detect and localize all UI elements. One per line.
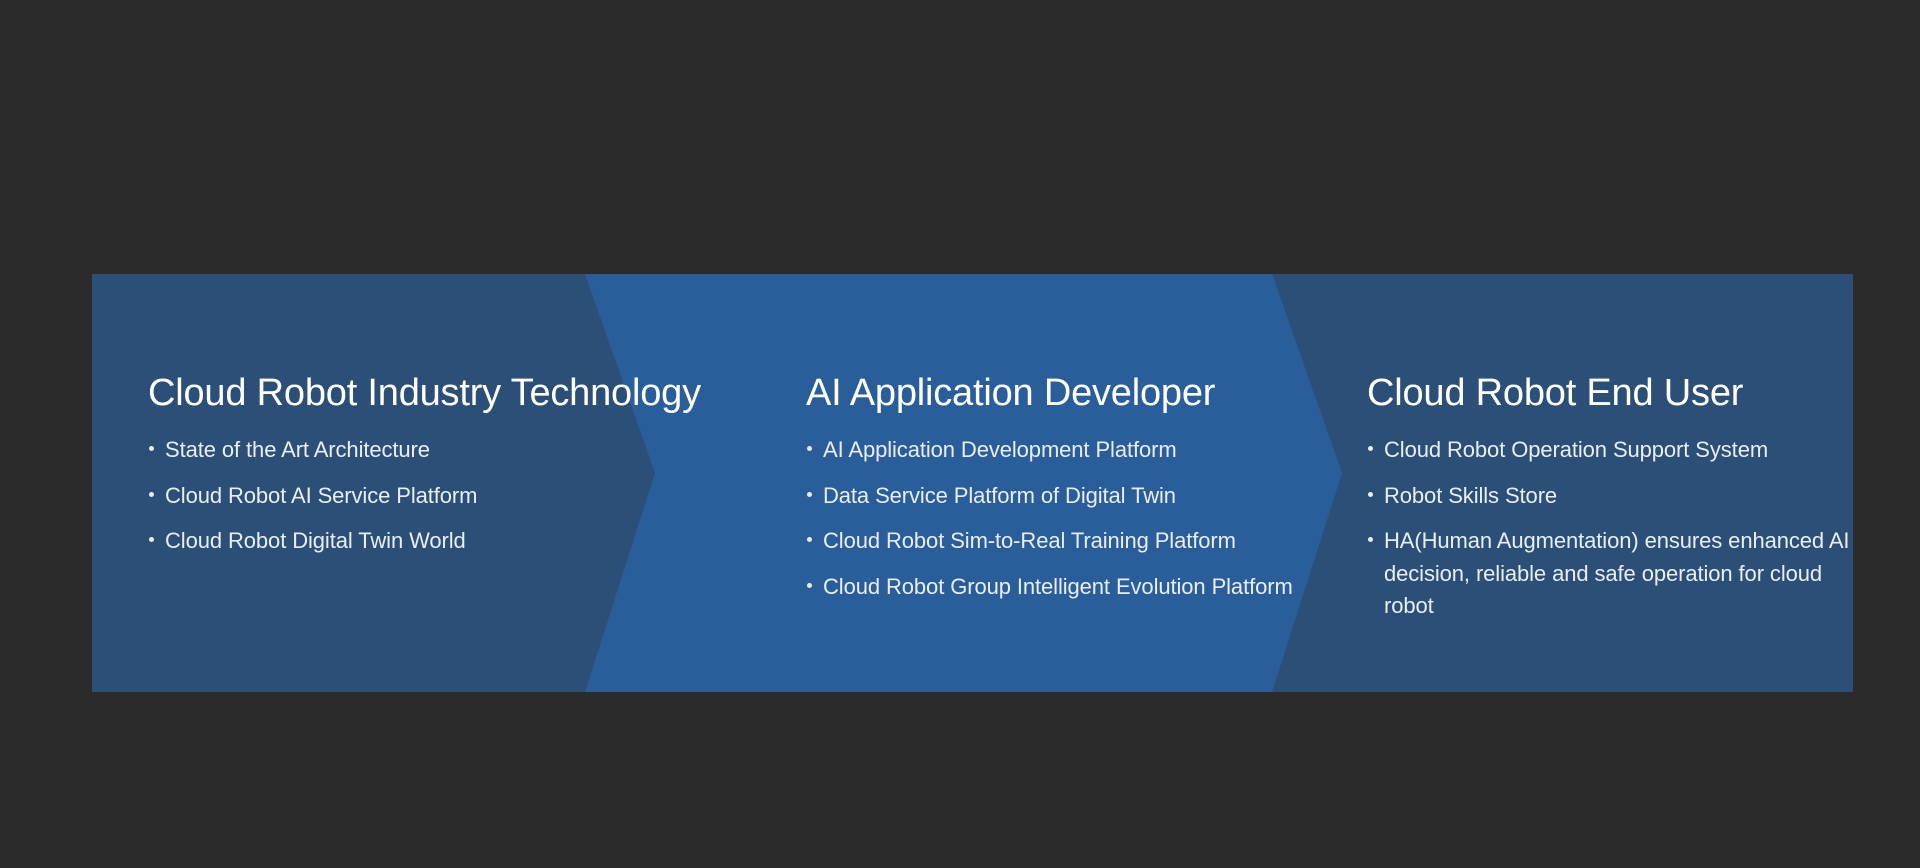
list-item-label: State of the Art Architecture <box>165 437 430 462</box>
list-item-label: Cloud Robot AI Service Platform <box>165 483 477 508</box>
list-item-label: Robot Skills Store <box>1384 483 1557 508</box>
list-item: Cloud Robot Operation Support System <box>1367 434 1867 467</box>
list-item: Cloud Robot Sim-to-Real Training Platfor… <box>806 525 1293 558</box>
list-item-label: Cloud Robot Digital Twin World <box>165 528 466 553</box>
list-item: State of the Art Architecture <box>148 434 477 467</box>
list-item: AI Application Development Platform <box>806 434 1293 467</box>
segment-3-heading: Cloud Robot End User <box>1367 374 1743 412</box>
bullet-dot-icon <box>1368 446 1373 451</box>
bullet-dot-icon <box>807 492 812 497</box>
bullet-dot-icon <box>807 446 812 451</box>
bullet-dot-icon <box>149 492 154 497</box>
list-item-label: AI Application Development Platform <box>823 437 1177 462</box>
segment-1-heading: Cloud Robot Industry Technology <box>148 374 701 412</box>
bullet-dot-icon <box>1368 537 1373 542</box>
bullet-dot-icon <box>807 583 812 588</box>
list-item: Robot Skills Store <box>1367 480 1867 513</box>
column-cloud-robot-end-user: Cloud Robot End User Cloud Robot Operati… <box>1367 274 1867 692</box>
bullet-dot-icon <box>149 446 154 451</box>
segment-2-heading: AI Application Developer <box>806 374 1215 412</box>
list-item-label: Cloud Robot Group Intelligent Evolution … <box>823 574 1293 599</box>
list-item-label: HA(Human Augmentation) ensures enhanced … <box>1384 528 1849 618</box>
column-cloud-robot-industry-technology: Cloud Robot Industry Technology State of… <box>148 274 748 692</box>
bullet-dot-icon <box>1368 492 1373 497</box>
process-chevron-banner: Cloud Robot Industry Technology State of… <box>92 274 1853 692</box>
bullet-dot-icon <box>807 537 812 542</box>
list-item: Cloud Robot Group Intelligent Evolution … <box>806 571 1293 604</box>
list-item: Cloud Robot AI Service Platform <box>148 480 477 513</box>
list-item-label: Cloud Robot Operation Support System <box>1384 437 1768 462</box>
list-item: Cloud Robot Digital Twin World <box>148 525 477 558</box>
list-item-label: Data Service Platform of Digital Twin <box>823 483 1176 508</box>
list-item: HA(Human Augmentation) ensures enhanced … <box>1367 525 1867 623</box>
segment-3-bullet-list: Cloud Robot Operation Support System Rob… <box>1367 434 1867 623</box>
segment-2-bullet-list: AI Application Development Platform Data… <box>806 434 1293 603</box>
slide-canvas: Cloud Robot Industry Technology State of… <box>0 0 1920 868</box>
column-ai-application-developer: AI Application Developer AI Application … <box>806 274 1346 692</box>
list-item-label: Cloud Robot Sim-to-Real Training Platfor… <box>823 528 1236 553</box>
bullet-dot-icon <box>149 537 154 542</box>
list-item: Data Service Platform of Digital Twin <box>806 480 1293 513</box>
segment-1-bullet-list: State of the Art Architecture Cloud Robo… <box>148 434 477 558</box>
